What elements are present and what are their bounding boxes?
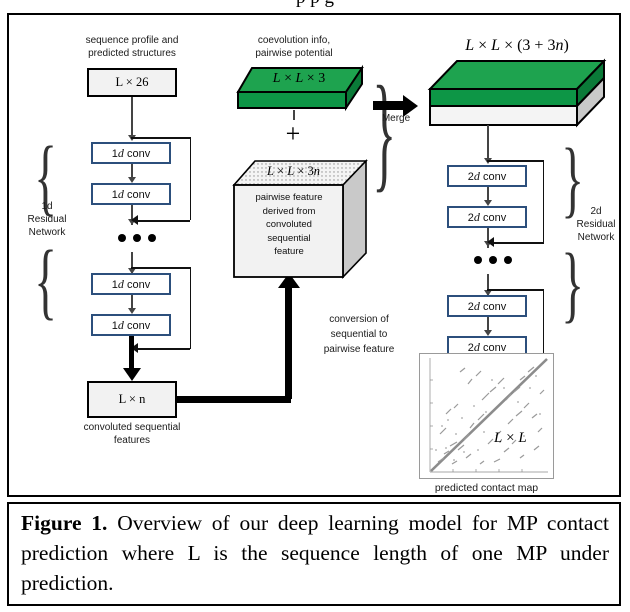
- pairwise-cube-top-label: L × L × 3n: [246, 164, 341, 179]
- skip2d-1-arrowhead: [487, 237, 494, 247]
- conv-block-2d-3: 2d conv: [447, 295, 527, 317]
- conv-block-1d-3: 1d conv: [91, 273, 171, 295]
- merge-arrow-shaft: [373, 101, 405, 110]
- sequence-input-label: sequence profile and predicted structure…: [62, 34, 202, 60]
- conv-block-2d-1: 2d conv: [447, 165, 527, 187]
- conv-block-1d-3-label: 1d conv: [112, 277, 150, 292]
- conv-block-1d-4-label: 1d conv: [112, 318, 150, 333]
- caption-text: Overview of our deep learning model for …: [21, 511, 609, 595]
- conv-block-2d-2-label: 2d conv: [468, 210, 506, 225]
- merged-slab: [427, 59, 607, 131]
- skip1d-2-bottom: [135, 348, 190, 350]
- figure-frame: sequence profile and predicted structure…: [7, 13, 621, 497]
- conv-block-1d-2: 1d conv: [91, 183, 171, 205]
- skip1d-2-top: [131, 267, 191, 269]
- resnet2d-ellipsis: [474, 256, 512, 264]
- conv-block-1d-2-label: 1d conv: [112, 187, 150, 202]
- skip1d-1-bottom: [135, 220, 190, 222]
- coevolution-label: coevolution info, pairwise potential: [224, 34, 364, 60]
- resnet1d-ellipsis: [118, 234, 156, 242]
- skip2d-1-right: [543, 160, 545, 243]
- resnet2d-brace-lower: }: [561, 240, 584, 326]
- caption-frame: Figure 1. Overview of our deep learning …: [7, 502, 621, 606]
- skip1d-2-right: [190, 267, 192, 349]
- conv-block-2d-1-label: 2d conv: [468, 169, 506, 184]
- predicted-contact-map: [419, 353, 554, 479]
- sequence-input-box: L × 26: [87, 68, 177, 97]
- merged-slab-label: L × L × (3 + 3n): [427, 37, 607, 55]
- sequence-input-box-label: L × 26: [116, 75, 149, 90]
- skip2d-1-bottom: [491, 242, 544, 244]
- skip1d-1-right: [190, 137, 192, 220]
- resnet1d-output-arrow-shaft: [129, 336, 134, 371]
- figure-caption: Figure 1. Overview of our deep learning …: [21, 508, 609, 598]
- conv-block-2d-3-label: 2d conv: [468, 299, 506, 314]
- caption-bold-prefix: Figure 1.: [21, 511, 107, 535]
- conv-block-1d-1: 1d conv: [91, 142, 171, 164]
- convoluted-sequential-label: convoluted sequential features: [59, 421, 205, 447]
- conversion-path-vertical: [285, 287, 292, 399]
- seq-to-resnet-line: [131, 97, 133, 137]
- pairwise-cube-text: pairwise feature derived from convoluted…: [235, 191, 343, 259]
- resnet1d-output-arrow-head: [123, 368, 141, 381]
- skip2d-2-top: [487, 289, 544, 291]
- convoluted-sequential-box-label: L × n: [119, 392, 146, 407]
- resnet1d-brace-lower: {: [34, 237, 57, 323]
- convoluted-sequential-box: L × n: [87, 381, 177, 418]
- merge-brace: }: [372, 67, 396, 197]
- conv-block-2d-2: 2d conv: [447, 206, 527, 228]
- plus-sign: +: [268, 119, 318, 149]
- skip1d-1-arrowhead: [131, 215, 138, 225]
- skip2d-1-top: [487, 160, 544, 162]
- conversion-label: conversion of sequential to pairwise fea…: [294, 312, 424, 357]
- merged-to-resnet2d-line: [487, 125, 489, 161]
- conv-block-1d-1-label: 1d conv: [112, 146, 150, 161]
- conversion-path-horizontal: [175, 396, 291, 403]
- cut-off-top-text: p p g: [0, 0, 630, 9]
- skip1d-1-top: [131, 137, 191, 139]
- conv-block-1d-4: 1d conv: [91, 314, 171, 336]
- coevolution-slab-label: L × L × 3: [249, 71, 349, 87]
- contact-map-inline-label: L × L: [494, 430, 527, 447]
- contact-map-caption: predicted contact map: [414, 482, 559, 495]
- figure-page: p p g sequence profile and predicted str…: [0, 0, 630, 612]
- merge-label: Merge: [367, 112, 425, 125]
